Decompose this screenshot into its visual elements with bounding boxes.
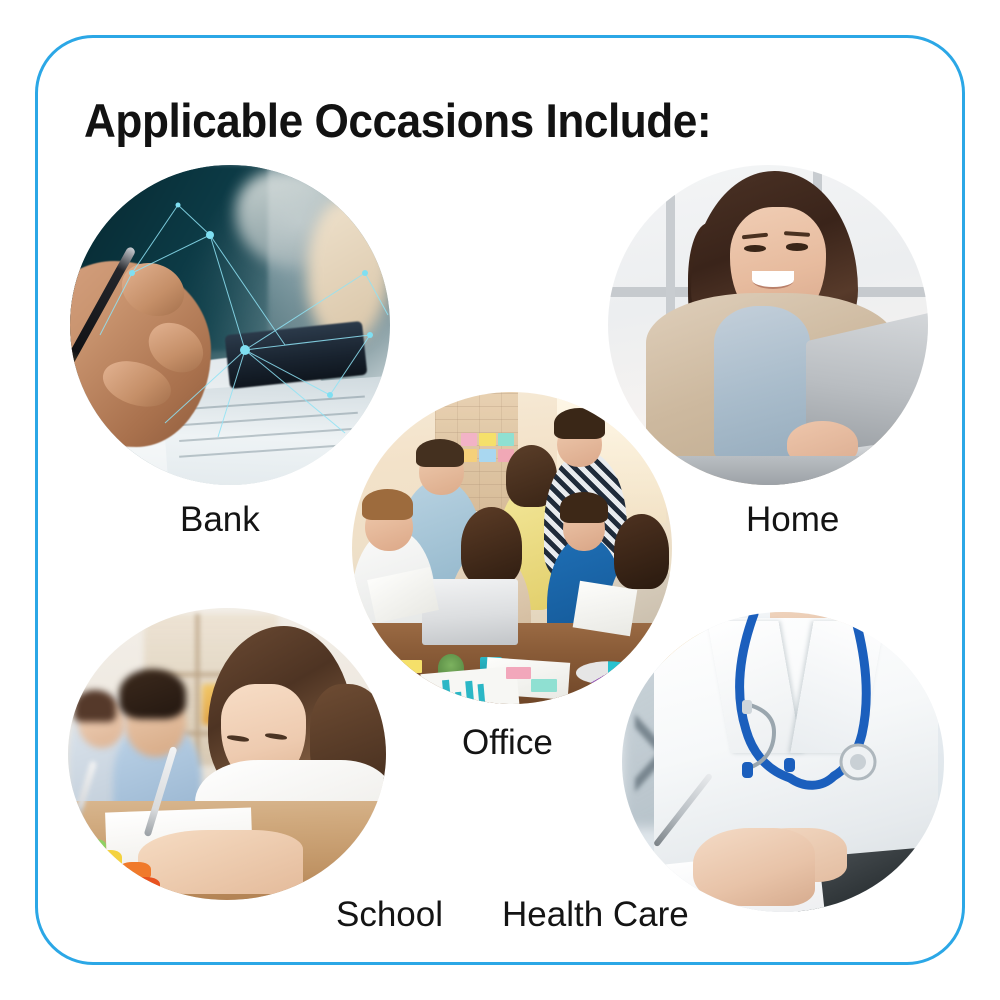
office-chart-bar (466, 681, 475, 703)
bank-network-overlay (70, 165, 390, 485)
occasion-label-home: Home (746, 500, 839, 540)
office-person-center-hair (461, 507, 522, 585)
occasion-label-bank: Bank (180, 500, 260, 540)
office-person-glasses-hair (362, 489, 413, 520)
school-letter-yellow (93, 850, 122, 868)
school-child-hair-mid (119, 669, 186, 719)
school-photo (68, 608, 386, 900)
office-chart-bar (443, 680, 452, 704)
office-person-standing-left-hair (416, 439, 464, 467)
school-child-hair-left (74, 690, 115, 722)
poster-root: Applicable Occasions Include: (0, 0, 1000, 1000)
bank-photo (70, 165, 390, 485)
school-shelf-divider (195, 614, 200, 766)
office-person-right-hair (614, 514, 668, 589)
office-table-sticky (531, 679, 557, 691)
office-chart-bar (455, 692, 463, 704)
office-sticky-note (498, 433, 514, 446)
home-eye-right (786, 243, 808, 250)
occasion-label-office: Office (462, 723, 553, 763)
office-person-plaid-hair (554, 408, 605, 439)
page-title: Applicable Occasions Include: (84, 93, 711, 148)
office-table-sticky (397, 660, 423, 672)
health-care-writing-hand (693, 828, 815, 906)
office-sticky-note (479, 449, 495, 462)
office-sticky-note-board (461, 433, 515, 467)
home-smile (752, 271, 794, 289)
office-sticky-note (479, 433, 495, 446)
school-letter-red (125, 877, 160, 895)
office-table-sticky (506, 667, 532, 679)
occasion-circle-school[interactable] (68, 608, 386, 900)
school-girl-arm (138, 830, 303, 894)
office-person-blue-hair (560, 492, 608, 523)
office-laptop (422, 579, 518, 645)
occasion-label-health-care: Health Care (502, 895, 689, 935)
office-chart-bar (432, 689, 440, 704)
occasion-label-school: School (336, 895, 443, 935)
office-sticky-note (461, 433, 477, 446)
office-chart-bar (478, 684, 486, 702)
occasion-circle-bank[interactable] (70, 165, 390, 485)
occasion-circle-health-care[interactable] (622, 612, 944, 912)
health-care-photo (622, 612, 944, 912)
